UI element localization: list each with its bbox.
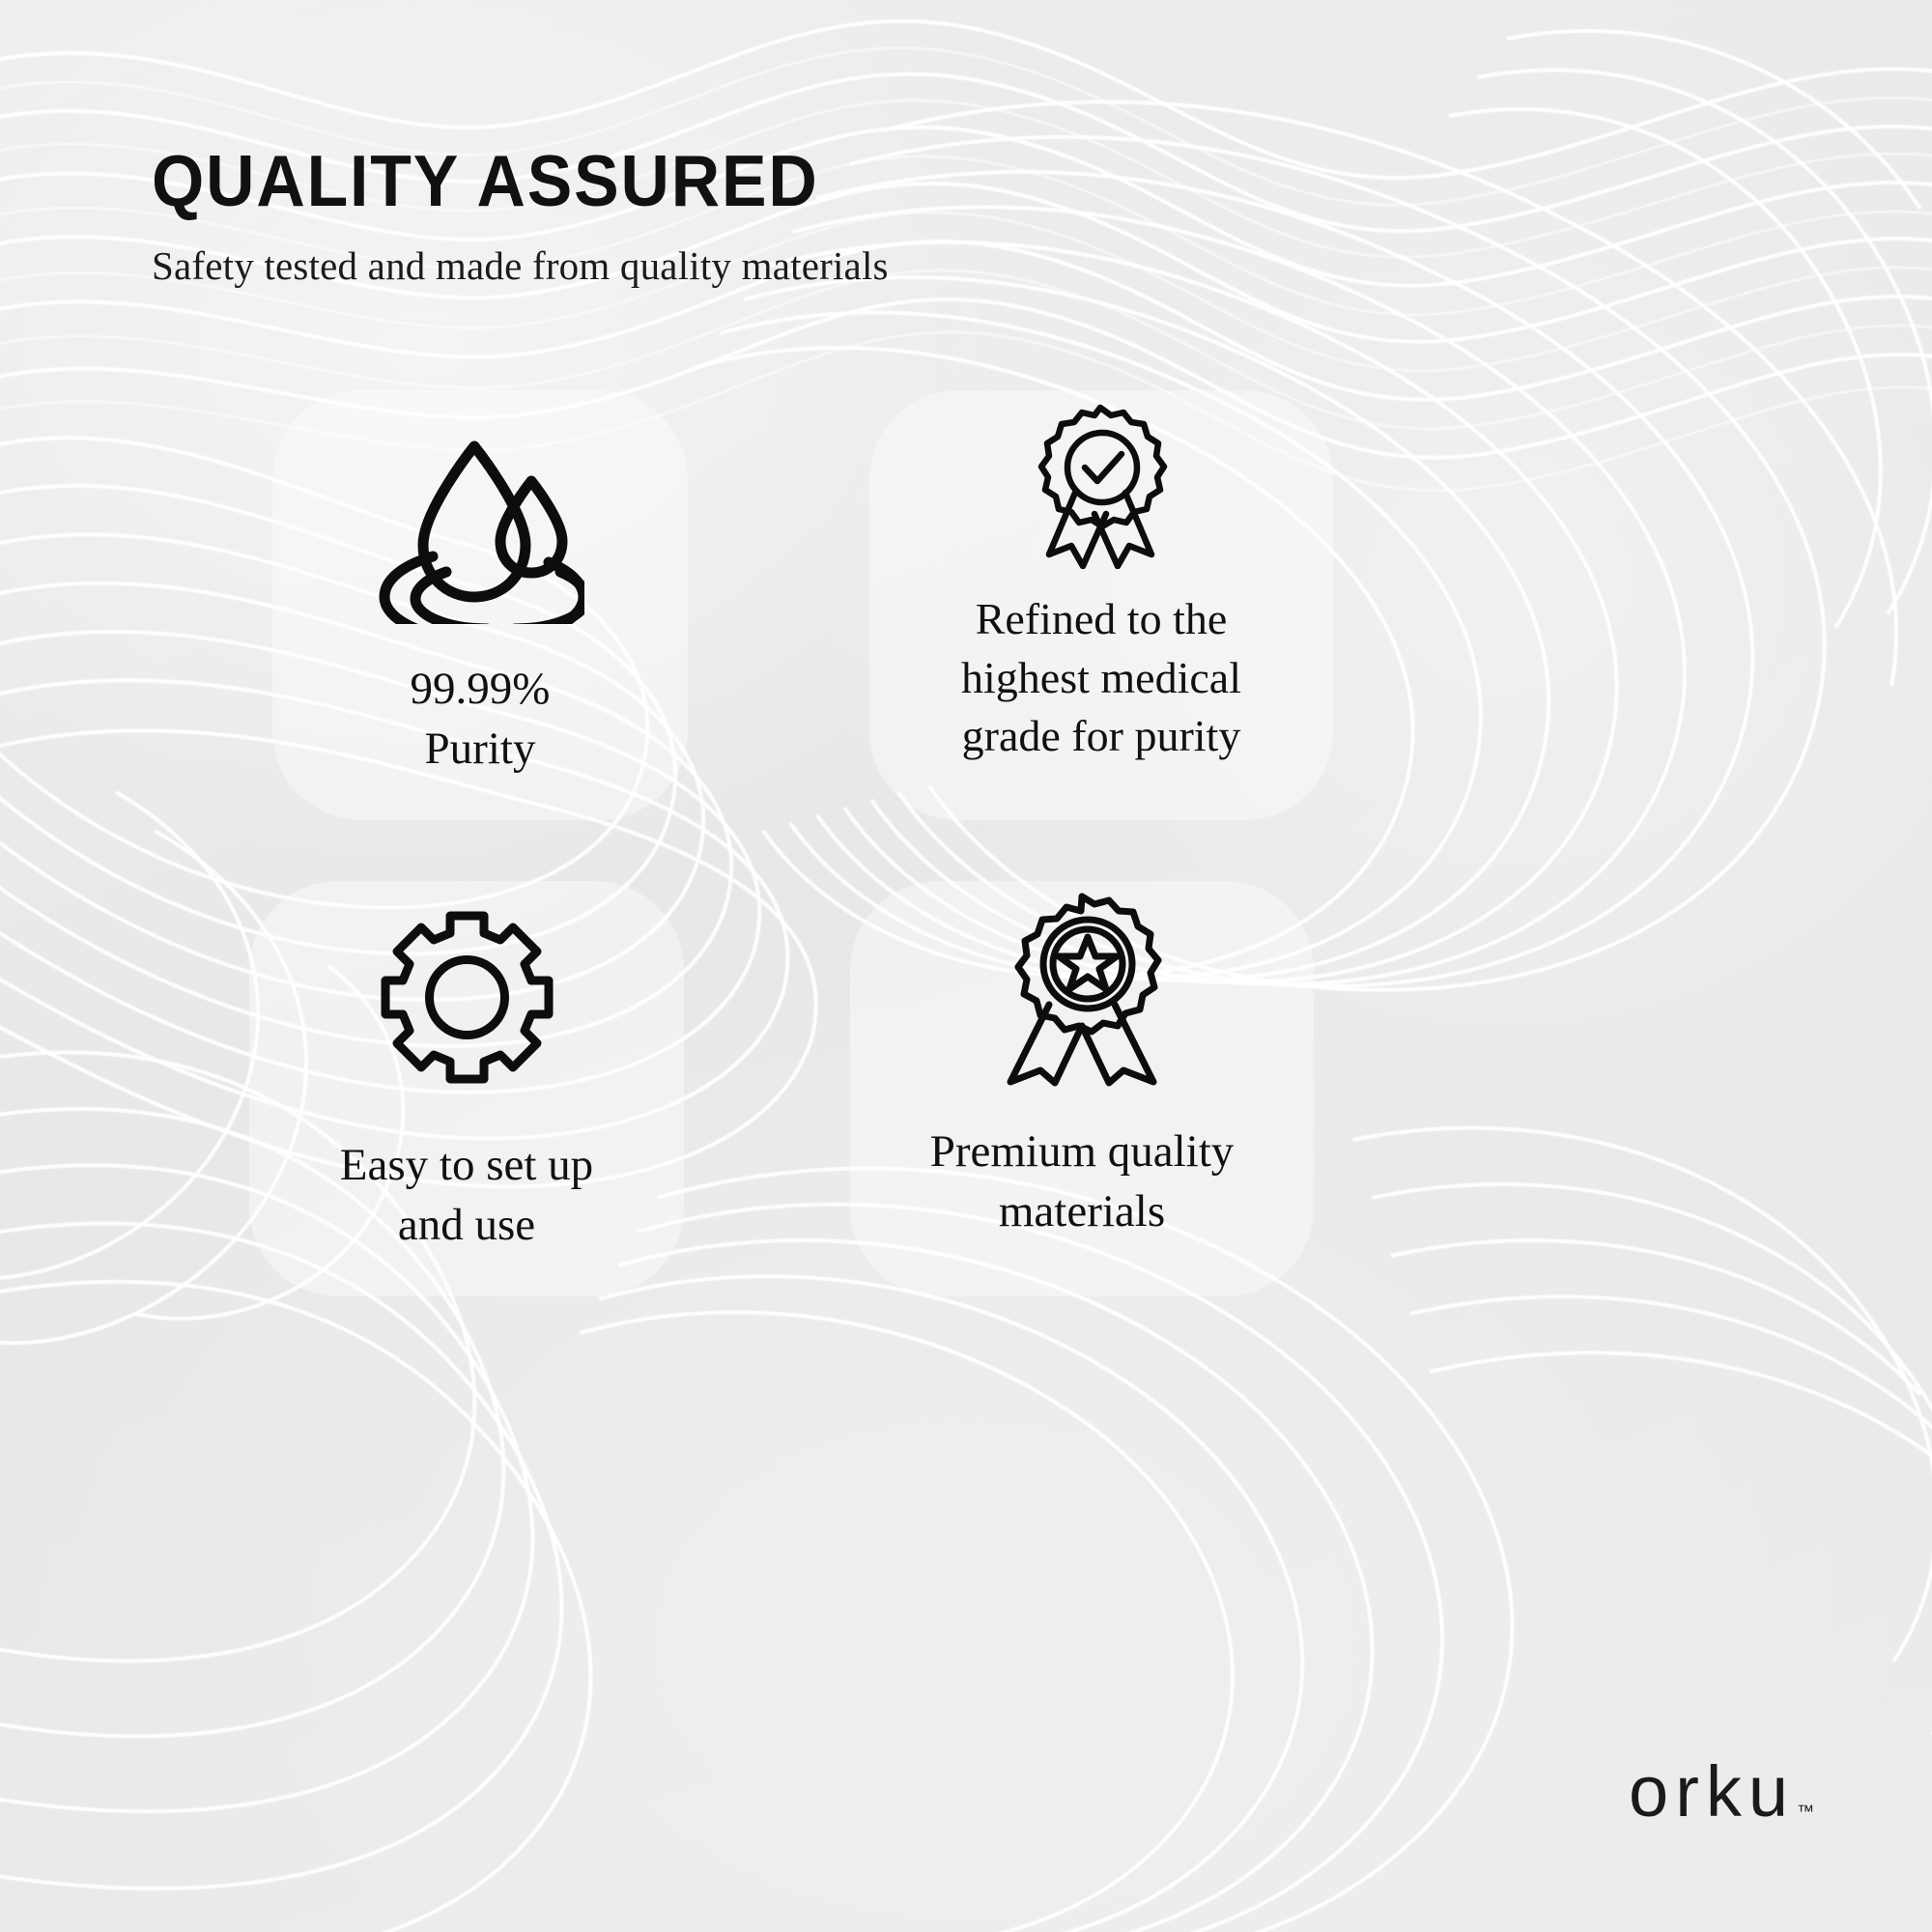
feature-card-premium-materials[interactable]: Premium quality materials: [850, 881, 1314, 1296]
brand-name: orku: [1629, 1756, 1795, 1828]
feature-card-easy-setup[interactable]: Easy to set up and use: [249, 881, 684, 1296]
feature-card-premium-materials-label: Premium quality materials: [930, 1122, 1235, 1241]
award-ribbon-check-icon: [1017, 400, 1186, 569]
feature-card-medical-grade[interactable]: Refined to the highest medical grade for…: [869, 390, 1333, 820]
gear-cog-icon: [378, 908, 556, 1087]
trademark-symbol: ™: [1797, 1802, 1814, 1822]
brand-logo: orku ™: [1629, 1756, 1814, 1828]
poster-canvas: QUALITY ASSURED Safety tested and made f…: [0, 0, 1932, 1932]
feature-card-purity-label: 99.99% Purity: [411, 659, 551, 779]
feature-card-purity[interactable]: 99.99% Purity: [272, 390, 688, 820]
feature-card-easy-setup-label: Easy to set up and use: [340, 1135, 593, 1255]
award-ribbon-star-icon: [985, 891, 1179, 1089]
water-droplet-ripple-icon: [377, 431, 584, 624]
feature-card-medical-grade-label: Refined to the highest medical grade for…: [961, 590, 1241, 766]
feature-card-grid: 99.99% Purity: [0, 0, 1932, 1932]
